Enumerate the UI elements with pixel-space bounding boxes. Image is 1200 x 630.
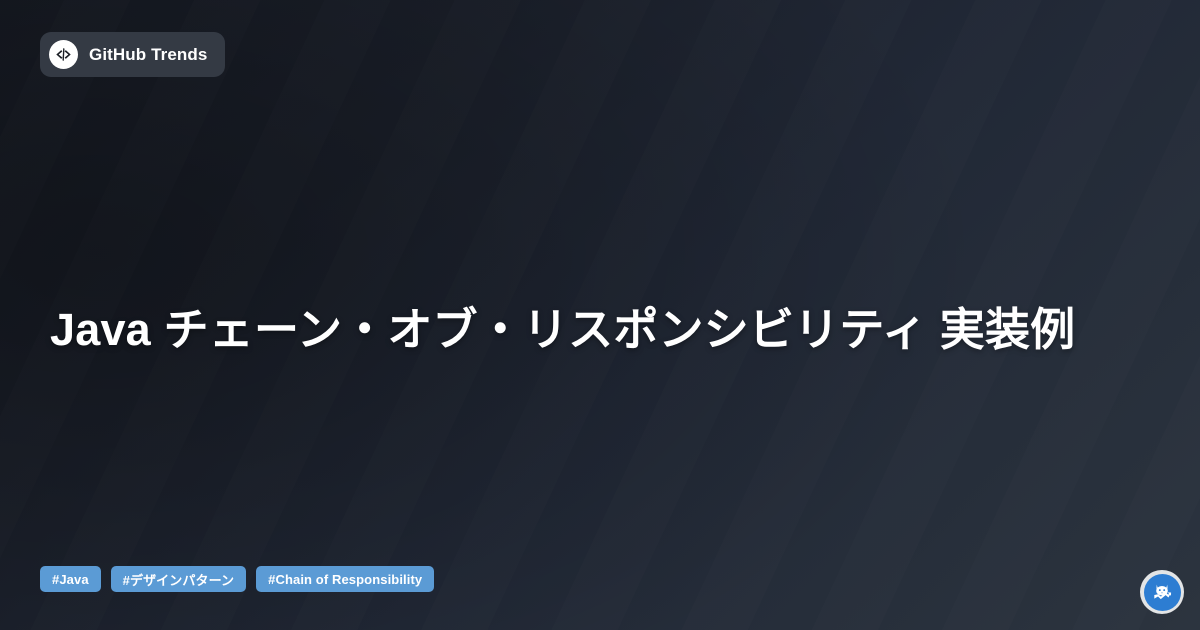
brand-badge[interactable]: GitHub Trends	[40, 32, 225, 77]
tag-list: #Java #デザインパターン #Chain of Responsibility	[40, 566, 434, 592]
page-title: Java チェーン・オブ・リスポンシビリティ 実装例	[50, 300, 1150, 359]
tag-item[interactable]: #デザインパターン	[111, 566, 246, 592]
site-logo[interactable]	[1140, 570, 1184, 614]
tag-item[interactable]: #Chain of Responsibility	[256, 566, 434, 592]
brand-name: GitHub Trends	[89, 45, 207, 65]
og-card: GitHub Trends Java チェーン・オブ・リスポンシビリティ 実装例…	[0, 0, 1200, 630]
cat-trending-up-icon	[1144, 574, 1181, 611]
tag-item[interactable]: #Java	[40, 566, 101, 592]
code-brackets-icon	[49, 40, 78, 69]
